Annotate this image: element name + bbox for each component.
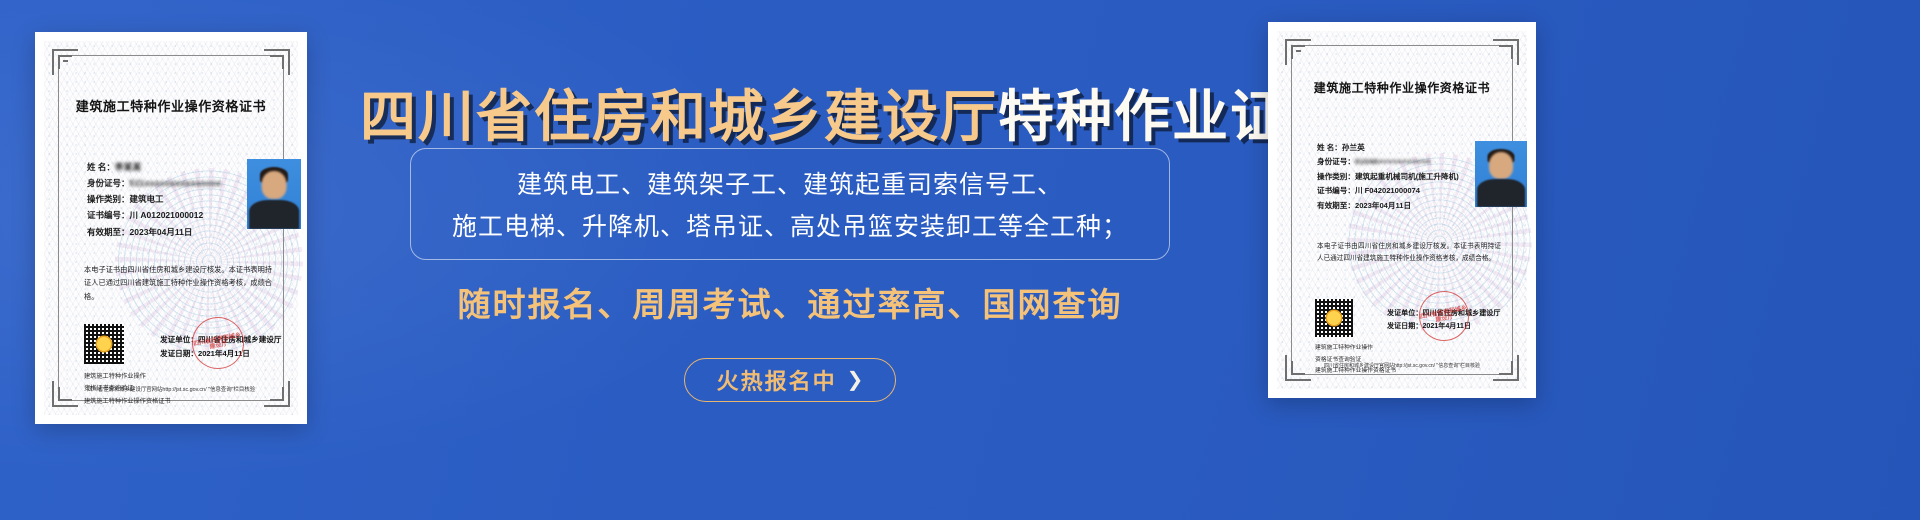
banner-center-content: 四川省住房和城乡建设厅特种作业证 建筑电工、建筑架子工、建筑起重司索信号工、 施… bbox=[360, 0, 1220, 520]
enroll-now-label: 火热报名中 bbox=[717, 364, 837, 396]
dept-line: 建筑施工特种作业操作资格证书 bbox=[84, 396, 171, 408]
qr-code-icon bbox=[1315, 299, 1353, 337]
field-row: 姓 名：李某某 bbox=[87, 159, 237, 175]
field-row: 有效期至：2023年04月11日 bbox=[1317, 199, 1467, 213]
certificate-footer: 四川省住房和城乡建设厅官网站http://jst.sc.gov.cn/ "信息查… bbox=[1277, 362, 1527, 369]
certificate-field-list: 姓 名：孙兰英 身份证号：51046××××××××××× 操作类别：建筑起重机… bbox=[1317, 141, 1467, 213]
promo-text: 随时报名、周周考试、通过率高、国网查询 bbox=[360, 278, 1220, 326]
field-label: 有效期至： bbox=[1317, 201, 1355, 210]
certificate-title: 建筑施工特种作业操作资格证书 bbox=[1277, 79, 1527, 96]
department-lines: 建筑施工特种作业操作 资格证书查询验证 建筑施工特种作业操作资格证书 bbox=[1315, 343, 1396, 378]
field-row: 姓 名：孙兰英 bbox=[1317, 141, 1467, 155]
dept-line: 建筑施工特种作业操作 bbox=[84, 371, 171, 383]
field-label: 操作类别： bbox=[87, 194, 130, 204]
corner-ornament-icon bbox=[52, 49, 78, 75]
field-value: 2023年04月11日 bbox=[130, 227, 193, 237]
corner-ornament-icon bbox=[1285, 39, 1311, 65]
field-value: 李某某 bbox=[115, 162, 142, 172]
field-label: 身份证号： bbox=[87, 178, 130, 188]
field-row: 操作类别：建筑电工 bbox=[87, 191, 237, 207]
corner-ornament-icon bbox=[264, 49, 290, 75]
field-value: 川 A012021000012 bbox=[130, 210, 204, 220]
field-value: 511xxxxxxxxxxxxxxx bbox=[130, 178, 222, 188]
photo-face-shape bbox=[262, 171, 287, 199]
holder-photo bbox=[1475, 141, 1527, 207]
field-label: 操作类别： bbox=[1317, 172, 1355, 181]
field-label: 证书编号： bbox=[1317, 186, 1355, 195]
certificate-card-right: 建筑施工特种作业操作资格证书 姓 名：孙兰英 身份证号：51046×××××××… bbox=[1268, 22, 1536, 398]
field-label: 有效期至： bbox=[87, 227, 130, 237]
field-label: 证书编号： bbox=[87, 210, 130, 220]
field-row: 有效期至：2023年04月11日 bbox=[87, 224, 237, 240]
field-row: 证书编号：川 A012021000012 bbox=[87, 207, 237, 223]
qr-center-emblem-icon bbox=[1326, 310, 1343, 327]
certificate-card-left: 建筑施工特种作业操作资格证书 姓 名：李某某 身份证号：511xxxxxxxxx… bbox=[35, 32, 307, 424]
scope-box: 建筑电工、建筑架子工、建筑起重司索信号工、 施工电梯、升降机、塔吊证、高处吊篮安… bbox=[410, 148, 1170, 260]
field-row: 操作类别：建筑起重机械司机(施工升降机) bbox=[1317, 170, 1467, 184]
scope-line: 建筑电工、建筑架子工、建筑起重司索信号工、 bbox=[517, 165, 1063, 201]
field-value: 孙兰英 bbox=[1342, 143, 1365, 152]
banner-headline: 四川省住房和城乡建设厅特种作业证 bbox=[360, 72, 1220, 153]
dept-line: 建筑施工特种作业操作 bbox=[1315, 343, 1396, 355]
qr-code-icon bbox=[84, 324, 124, 364]
certificate-title: 建筑施工特种作业操作资格证书 bbox=[44, 96, 298, 115]
headline-part-a: 四川省住房和城乡建设厅 bbox=[360, 85, 998, 150]
field-label: 身份证号： bbox=[1317, 157, 1355, 166]
photo-torso-shape bbox=[1477, 179, 1525, 207]
certificate-note: 本电子证书由四川省住房和城乡建设厅核发。本证书表明持证人已通过四川省建筑施工特种… bbox=[1317, 241, 1501, 265]
promo-banner: 建筑施工特种作业操作资格证书 姓 名：李某某 身份证号：511xxxxxxxxx… bbox=[0, 0, 1920, 520]
field-label: 姓 名： bbox=[1317, 143, 1342, 152]
field-row: 证书编号：川 F042021000074 bbox=[1317, 184, 1467, 198]
certificate-footer: 四川省住房和城乡建设厅官网站http://jst.sc.gov.cn/ "信息查… bbox=[44, 385, 298, 393]
certificate-field-list: 姓 名：李某某 身份证号：511xxxxxxxxxxxxxxx 操作类别：建筑电… bbox=[87, 159, 237, 240]
field-row: 身份证号：511xxxxxxxxxxxxxxx bbox=[87, 175, 237, 191]
certificate-note: 本电子证书由四川省住房和城乡建设厅核发。本证书表明持证人已通过四川省建筑施工特种… bbox=[84, 263, 272, 303]
holder-photo bbox=[247, 159, 301, 229]
field-value: 川 F042021000074 bbox=[1355, 186, 1420, 195]
field-label: 姓 名： bbox=[87, 162, 115, 172]
headline-part-b: 特种作业证 bbox=[998, 85, 1288, 150]
field-value: 2023年04月11日 bbox=[1355, 201, 1411, 210]
field-row: 身份证号：51046××××××××××× bbox=[1317, 155, 1467, 169]
photo-torso-shape bbox=[249, 200, 299, 229]
certificate-paper-left: 建筑施工特种作业操作资格证书 姓 名：李某某 身份证号：511xxxxxxxxx… bbox=[44, 41, 298, 415]
scope-line: 施工电梯、升降机、塔吊证、高处吊篮安装卸工等全工种； bbox=[452, 207, 1128, 243]
field-value: 51046××××××××××× bbox=[1355, 157, 1431, 166]
enroll-now-button[interactable]: 火热报名中 ❯ bbox=[684, 358, 896, 402]
qr-center-emblem-icon bbox=[96, 336, 113, 353]
field-value: 建筑起重机械司机(施工升降机) bbox=[1355, 172, 1459, 181]
field-value: 建筑电工 bbox=[130, 194, 164, 204]
corner-ornament-icon bbox=[1493, 39, 1519, 65]
certificate-paper-right: 建筑施工特种作业操作资格证书 姓 名：孙兰英 身份证号：51046×××××××… bbox=[1277, 31, 1527, 389]
chevron-right-icon: ❯ bbox=[847, 370, 864, 390]
photo-face-shape bbox=[1489, 152, 1513, 178]
